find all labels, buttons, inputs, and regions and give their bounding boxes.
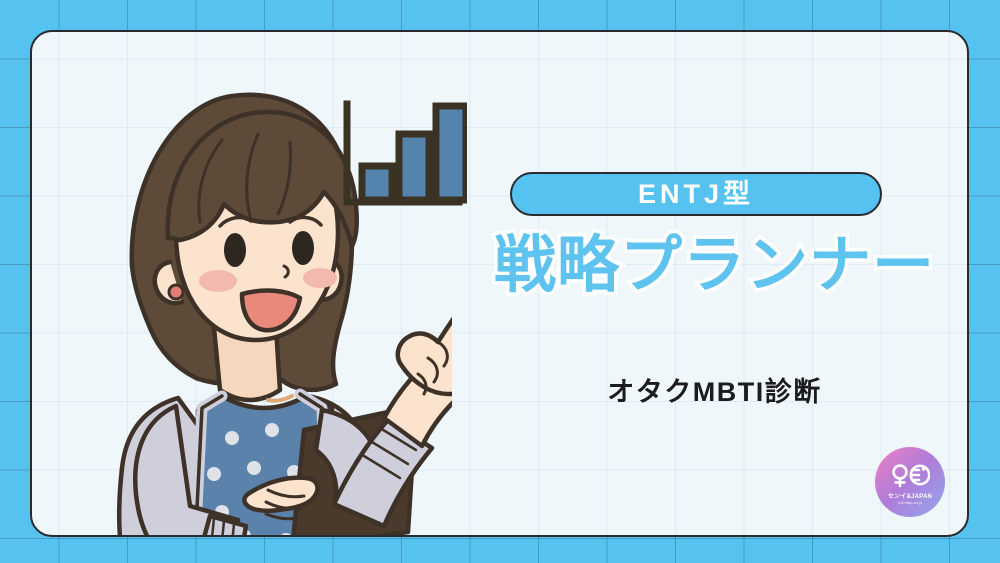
content-panel: ENTJ型 戦略プランナー オタクMBTI診断 センイ&JAPAN [30, 30, 969, 537]
page-subtitle: オタクMBTI診断 [462, 370, 967, 409]
page-title: 戦略プランナー [462, 232, 967, 300]
logo-brand-name: センイ&JAPAN [888, 491, 932, 500]
mbti-type-badge: ENTJ型 [510, 172, 882, 216]
sentai-japan-logo-icon [890, 463, 930, 489]
mbti-type-label: ENTJ型 [638, 181, 754, 208]
logo-brand-sub: birthday-ad.jp [898, 501, 923, 505]
poster-canvas: ENTJ型 戦略プランナー オタクMBTI診断 センイ&JAPAN [0, 0, 1000, 563]
brand-logo: センイ&JAPAN birthday-ad.jp [875, 447, 945, 517]
bar-chart-icon [337, 94, 467, 214]
